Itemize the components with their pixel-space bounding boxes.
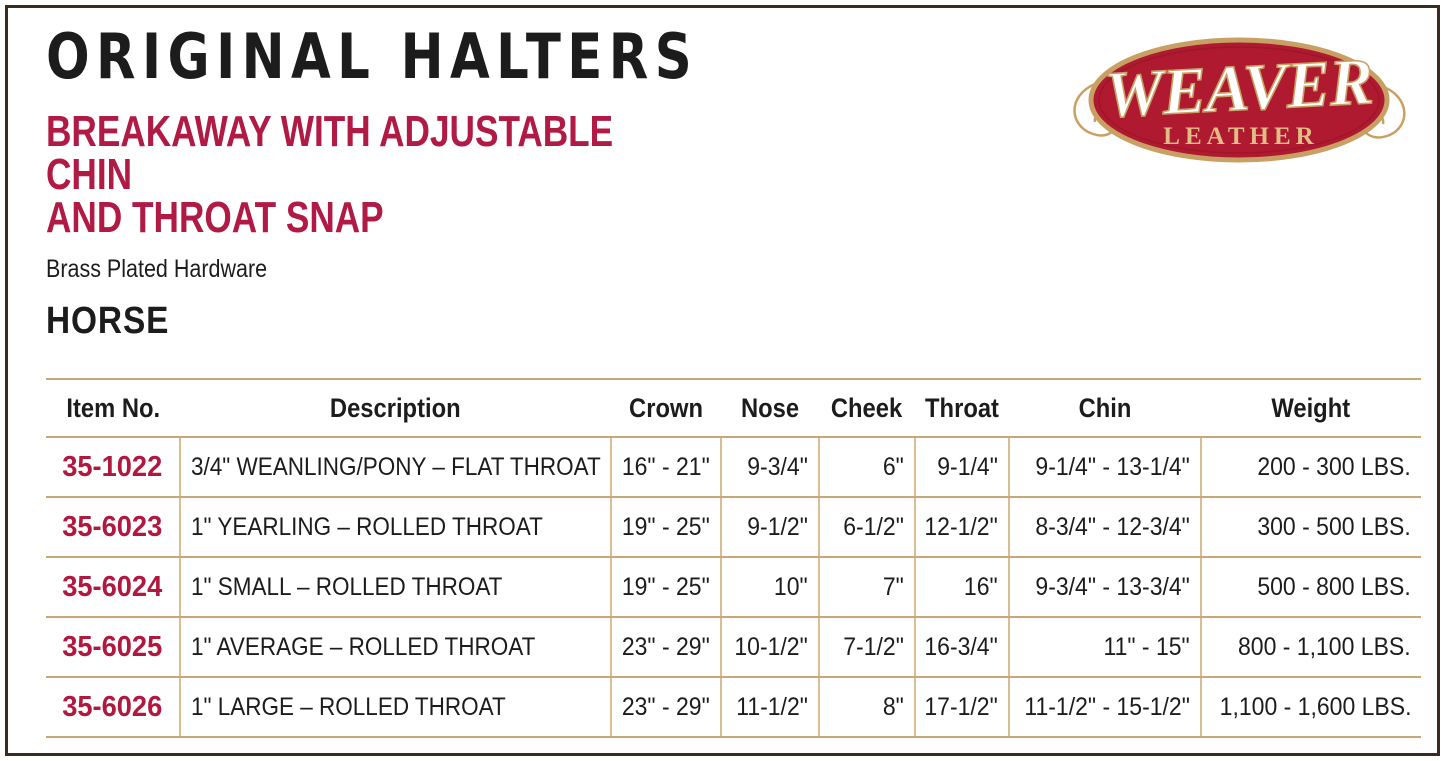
cell-cheek: 6-1/2" bbox=[819, 497, 915, 557]
column-header-description: Description bbox=[180, 379, 611, 437]
cell-throat: 12-1/2" bbox=[915, 497, 1009, 557]
cell-crown: 19" - 25" bbox=[611, 557, 721, 617]
logo-subbrand-text: LEATHER bbox=[1163, 123, 1318, 150]
cell-chin: 9-1/4" - 13-1/4" bbox=[1009, 437, 1201, 497]
cell-description: 3/4" WEANLING/PONY – FLAT THROAT bbox=[180, 437, 611, 497]
table-body: 35-1022 3/4" WEANLING/PONY – FLAT THROAT… bbox=[46, 437, 1421, 737]
cell-nose: 9-1/2" bbox=[721, 497, 819, 557]
cell-description: 1" AVERAGE – ROLLED THROAT bbox=[180, 617, 611, 677]
cell-crown: 19" - 25" bbox=[611, 497, 721, 557]
cell-cheek: 7" bbox=[819, 557, 915, 617]
column-header-chin: Chin bbox=[1009, 379, 1201, 437]
cell-item-no: 35-1022 bbox=[46, 437, 180, 497]
section-label-horse: HORSE bbox=[46, 300, 926, 343]
column-header-weight: Weight bbox=[1201, 379, 1421, 437]
cell-chin: 8-3/4" - 12-3/4" bbox=[1009, 497, 1201, 557]
cell-weight: 500 - 800 LBS. bbox=[1201, 557, 1421, 617]
column-header-crown: Crown bbox=[611, 379, 721, 437]
cell-crown: 23" - 29" bbox=[611, 677, 721, 737]
cell-nose: 11-1/2" bbox=[721, 677, 819, 737]
hardware-note: Brass Plated Hardware bbox=[46, 255, 906, 284]
page-title: ORIGINAL HALTERS bbox=[46, 26, 966, 88]
table-header-row: Item No. Description Crown Nose Cheek Th… bbox=[46, 379, 1421, 437]
cell-throat: 16" bbox=[915, 557, 1009, 617]
cell-weight: 300 - 500 LBS. bbox=[1201, 497, 1421, 557]
cell-chin: 11-1/2" - 15-1/2" bbox=[1009, 677, 1201, 737]
cell-cheek: 6" bbox=[819, 437, 915, 497]
cell-throat: 17-1/2" bbox=[915, 677, 1009, 737]
logo-brand-text: WEAVER bbox=[1103, 45, 1374, 132]
table-row: 35-6025 1" AVERAGE – ROLLED THROAT 23" -… bbox=[46, 617, 1421, 677]
column-header-cheek: Cheek bbox=[819, 379, 915, 437]
table-row: 35-6023 1" YEARLING – ROLLED THROAT 19" … bbox=[46, 497, 1421, 557]
cell-item-no: 35-6024 bbox=[46, 557, 180, 617]
table-row: 35-6026 1" LARGE – ROLLED THROAT 23" - 2… bbox=[46, 677, 1421, 737]
table-row: 35-1022 3/4" WEANLING/PONY – FLAT THROAT… bbox=[46, 437, 1421, 497]
cell-crown: 23" - 29" bbox=[611, 617, 721, 677]
column-header-throat: Throat bbox=[915, 379, 1009, 437]
cell-cheek: 8" bbox=[819, 677, 915, 737]
weaver-leather-logo: WEAVER LEATHER bbox=[1059, 22, 1419, 177]
cell-description: 1" LARGE – ROLLED THROAT bbox=[180, 677, 611, 737]
cell-weight: 200 - 300 LBS. bbox=[1201, 437, 1421, 497]
cell-throat: 9-1/4" bbox=[915, 437, 1009, 497]
cell-description: 1" SMALL – ROLLED THROAT bbox=[180, 557, 611, 617]
cell-throat: 16-3/4" bbox=[915, 617, 1009, 677]
cell-weight: 800 - 1,100 LBS. bbox=[1201, 617, 1421, 677]
cell-description: 1" YEARLING – ROLLED THROAT bbox=[180, 497, 611, 557]
column-header-nose: Nose bbox=[721, 379, 819, 437]
table-row: 35-6024 1" SMALL – ROLLED THROAT 19" - 2… bbox=[46, 557, 1421, 617]
cell-item-no: 35-6026 bbox=[46, 677, 180, 737]
column-header-item-no: Item No. bbox=[46, 379, 180, 437]
catalog-page: ORIGINAL HALTERS BREAKAWAY WITH ADJUSTAB… bbox=[0, 0, 1445, 761]
cell-item-no: 35-6023 bbox=[46, 497, 180, 557]
cell-nose: 10-1/2" bbox=[721, 617, 819, 677]
cell-cheek: 7-1/2" bbox=[819, 617, 915, 677]
cell-chin: 11" - 15" bbox=[1009, 617, 1201, 677]
cell-item-no: 35-6025 bbox=[46, 617, 180, 677]
cell-nose: 9-3/4" bbox=[721, 437, 819, 497]
page-subtitle: BREAKAWAY WITH ADJUSTABLE CHIN AND THROA… bbox=[46, 110, 686, 239]
cell-crown: 16" - 21" bbox=[611, 437, 721, 497]
cell-nose: 10" bbox=[721, 557, 819, 617]
cell-weight: 1,100 - 1,600 LBS. bbox=[1201, 677, 1421, 737]
cell-chin: 9-3/4" - 13-3/4" bbox=[1009, 557, 1201, 617]
header-block: ORIGINAL HALTERS BREAKAWAY WITH ADJUSTAB… bbox=[46, 26, 1046, 343]
halter-spec-table: Item No. Description Crown Nose Cheek Th… bbox=[46, 378, 1421, 738]
page-border-frame: ORIGINAL HALTERS BREAKAWAY WITH ADJUSTAB… bbox=[5, 5, 1440, 756]
